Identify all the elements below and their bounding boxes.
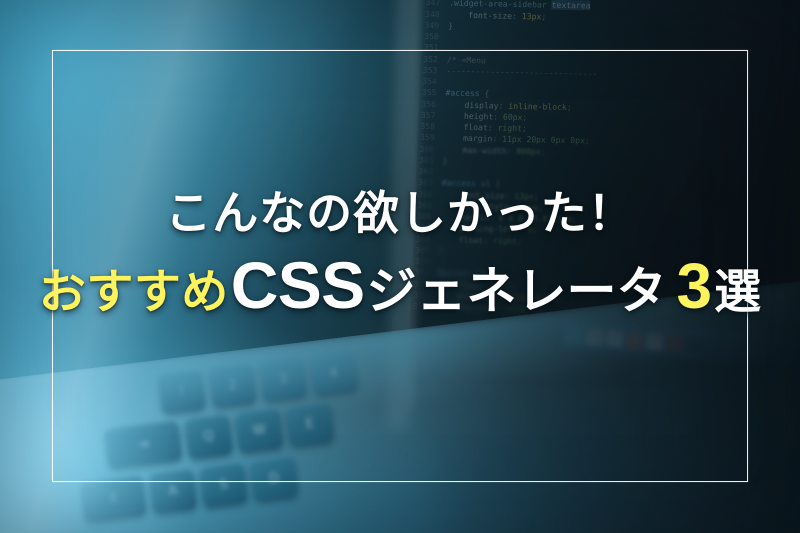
headline-count-number: 3	[677, 254, 713, 318]
graphic-canvas: 346.widget-area-sidebar347.widget-area-s…	[0, 0, 800, 533]
headline-line-1: こんなの欲しかった！	[0, 190, 800, 236]
headline-recommend-text: おすすめ	[39, 268, 229, 315]
headline-selection-text: 選	[714, 268, 761, 315]
headline-generator-text: ジェネレータ	[367, 266, 667, 316]
headline-css-text: CSS	[231, 252, 365, 318]
headline-line-2: おすすめ CSS ジェネレータ 3 選	[0, 252, 800, 318]
headline-block: こんなの欲しかった！ おすすめ CSS ジェネレータ 3 選	[0, 190, 800, 318]
